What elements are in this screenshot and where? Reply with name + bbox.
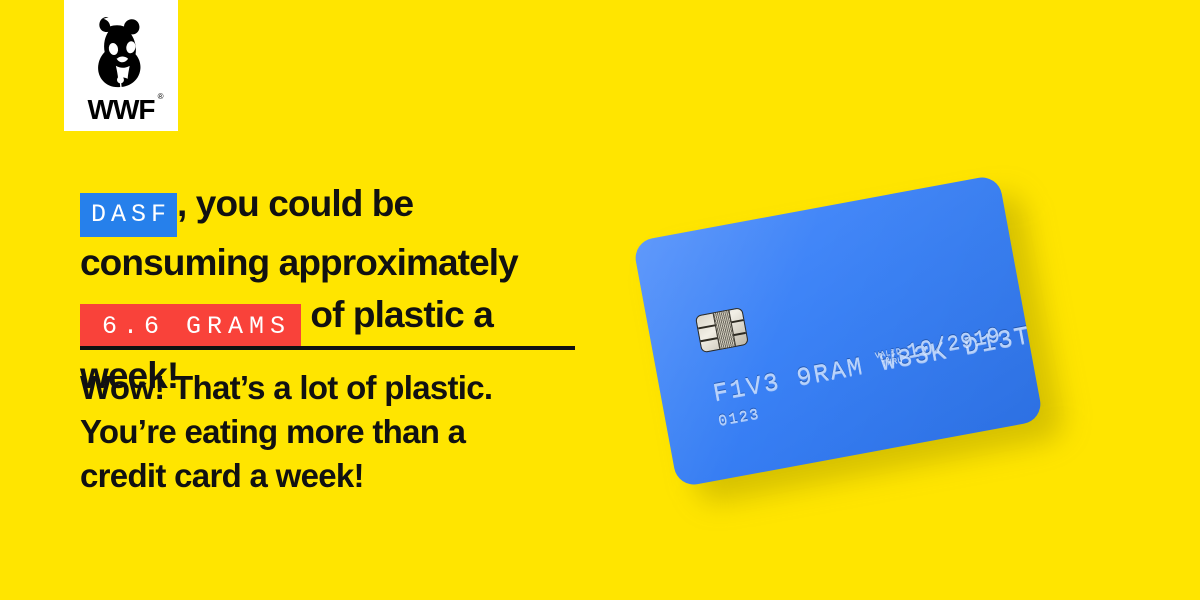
subcopy-line-2: You’re eating more than a: [80, 413, 465, 450]
emv-chip-icon: [695, 307, 749, 353]
headline-part-2: approximately: [279, 242, 518, 283]
chip-center-band: [712, 308, 736, 352]
registered-mark: ®: [158, 93, 163, 101]
subcopy-text: Wow! That’s a lot of plastic. You’re eat…: [80, 366, 600, 498]
credit-card-illustration: F1V3 9RAM W33K D13T 0123 VALID THRU ▶ 10…: [612, 170, 1092, 530]
name-highlight-chip: DASF: [80, 193, 177, 237]
poster-canvas: WWF® DASF, you could be consuming approx…: [0, 0, 1200, 600]
wwf-panda-icon: [78, 9, 164, 95]
subcopy-line-3: credit card a week!: [80, 457, 364, 494]
subcopy-line-1: Wow! That’s a lot of plastic.: [80, 369, 492, 406]
wwf-wordmark: WWF®: [88, 96, 155, 124]
horizontal-divider: [80, 346, 575, 350]
amount-highlight-chip: 6.6 GRAMS: [80, 304, 301, 350]
wwf-logo: WWF®: [64, 0, 178, 131]
card-embossed-number: 0123: [717, 406, 761, 430]
